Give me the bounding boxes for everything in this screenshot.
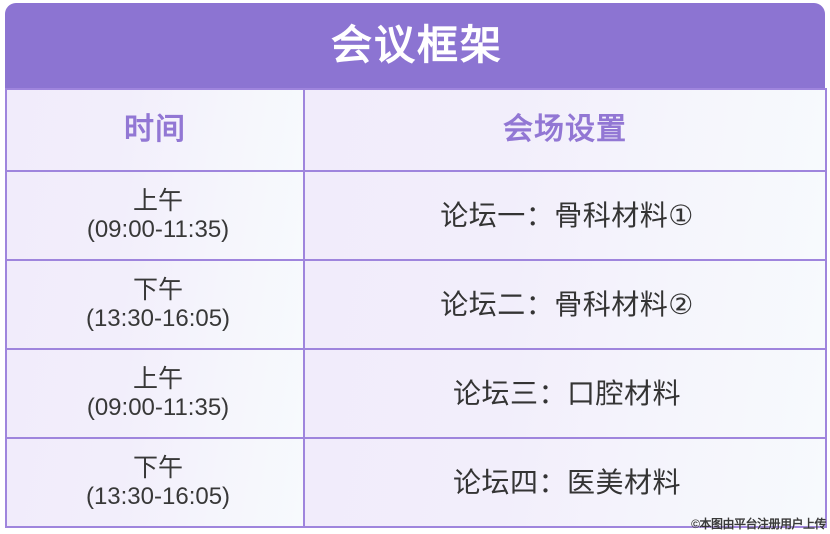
cell-venue: 论坛二：骨科材料② (304, 260, 826, 349)
cell-time: 下午 (13:30-16:05) (6, 438, 304, 527)
time-range-label: (13:30-16:05) (13, 483, 303, 511)
time-range-label: (13:30-16:05) (13, 305, 303, 333)
venue-label: 论坛三：口腔材料 (449, 378, 681, 409)
column-header-time: 时间 (6, 89, 304, 171)
venue-label: 论坛一：骨科材料① (436, 200, 694, 231)
cell-venue: 论坛三：口腔材料 (304, 349, 826, 438)
time-cell-content: 上午 (09:00-11:35) (7, 365, 303, 423)
table-header-row: 时间 会场设置 (6, 89, 826, 171)
time-period-label: 上午 (13, 365, 303, 395)
time-period-label: 下午 (13, 276, 303, 306)
time-period-label: 下午 (13, 454, 303, 484)
page-title: 会议框架 (327, 25, 503, 66)
column-header-venue: 会场设置 (304, 89, 826, 171)
time-range-label: (09:00-11:35) (13, 216, 303, 244)
time-range-label: (09:00-11:35) (13, 394, 303, 422)
time-cell-content: 下午 (13:30-16:05) (7, 276, 303, 334)
conference-schedule-table: 时间 会场设置 上午 (09:00-11:35) 论坛一：骨科材料① (5, 88, 827, 528)
table-row: 下午 (13:30-16:05) 论坛四：医美材料 (6, 438, 826, 527)
watermark-text: ©本图由平台注册用户上传 (691, 515, 826, 532)
table-row: 上午 (09:00-11:35) 论坛三：口腔材料 (6, 349, 826, 438)
table-header: 时间 会场设置 (6, 89, 826, 171)
schedule-sheet: 会议框架 时间 会场设置 上午 (09:00-11:35) (0, 0, 830, 534)
cell-venue: 论坛四：医美材料 (304, 438, 826, 527)
time-period-label: 上午 (13, 187, 303, 217)
time-cell-content: 下午 (13:30-16:05) (7, 454, 303, 512)
cell-venue: 论坛一：骨科材料① (304, 171, 826, 260)
column-header-venue-label: 会场设置 (503, 113, 627, 146)
column-header-time-label: 时间 (124, 113, 186, 146)
time-cell-content: 上午 (09:00-11:35) (7, 187, 303, 245)
venue-label: 论坛四：医美材料 (449, 467, 681, 498)
cell-time: 上午 (09:00-11:35) (6, 171, 304, 260)
table-row: 下午 (13:30-16:05) 论坛二：骨科材料② (6, 260, 826, 349)
table-row: 上午 (09:00-11:35) 论坛一：骨科材料① (6, 171, 826, 260)
table-body: 上午 (09:00-11:35) 论坛一：骨科材料① 下午 (13:30-16:… (6, 171, 826, 527)
venue-label: 论坛二：骨科材料② (436, 289, 694, 320)
cell-time: 下午 (13:30-16:05) (6, 260, 304, 349)
cell-time: 上午 (09:00-11:35) (6, 349, 304, 438)
title-banner: 会议框架 (5, 3, 825, 88)
